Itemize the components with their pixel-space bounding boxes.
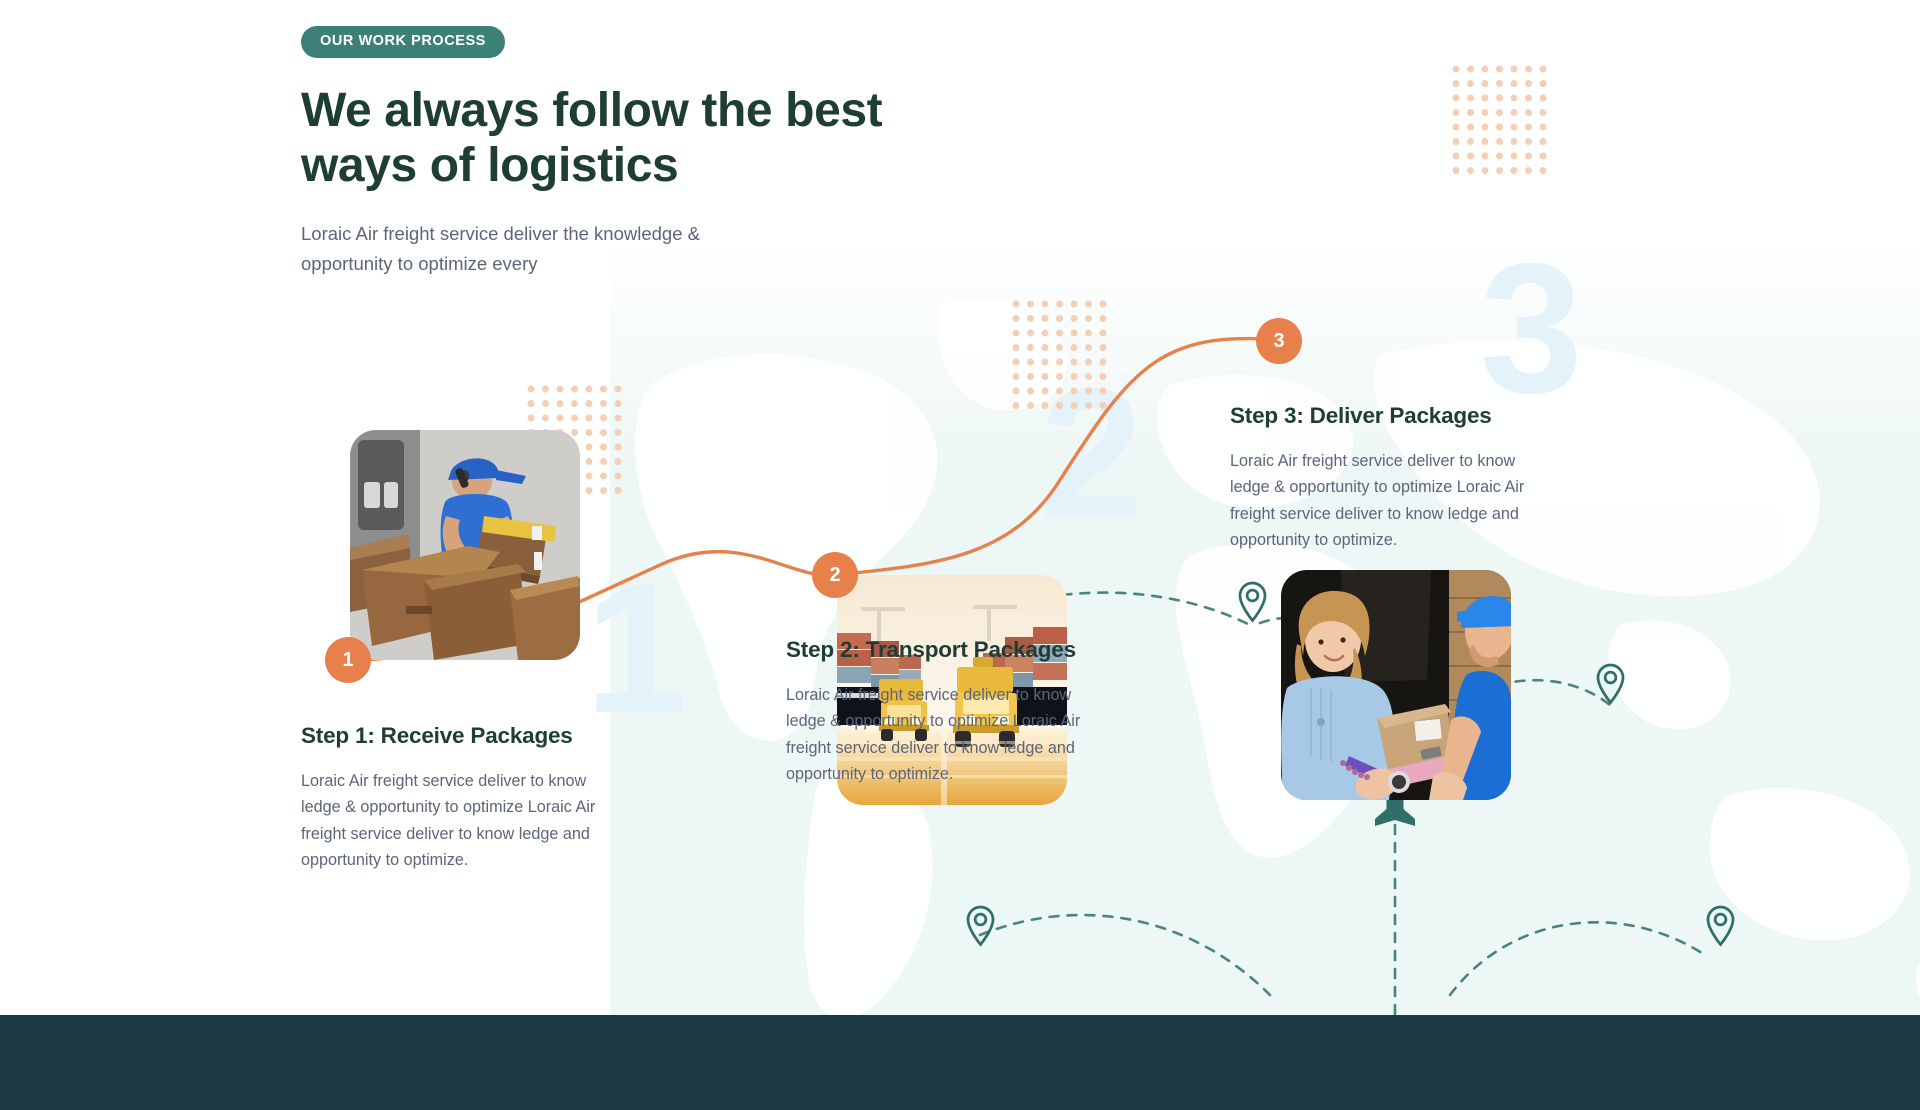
dot-grid-pattern (1012, 300, 1112, 410)
section-subtitle: Loraic Air freight service deliver the k… (301, 219, 791, 279)
page-title: We always follow the best ways of logist… (301, 83, 901, 193)
dot-grid-pattern (1452, 65, 1552, 175)
step-3-text-block: Step 3: Deliver Packages Loraic Air frei… (1230, 403, 1548, 554)
delivery-man-with-boxes-photo (350, 430, 580, 660)
step-2-text-block: Step 2: Transport Packages Loraic Air fr… (786, 637, 1104, 788)
section-header: OUR WORK PROCESS We always follow the be… (301, 26, 981, 279)
step-1-text-block: Step 1: Receive Packages Loraic Air frei… (301, 723, 619, 874)
footer-band (0, 1015, 1920, 1110)
step-1-title: Step 1: Receive Packages (301, 723, 619, 749)
step-2-badge: 2 (812, 552, 858, 598)
step-3-badge: 3 (1256, 318, 1302, 364)
step-2-body: Loraic Air freight service deliver to kn… (786, 682, 1104, 788)
step-3-title: Step 3: Deliver Packages (1230, 403, 1548, 429)
step-3-body: Loraic Air freight service deliver to kn… (1230, 448, 1548, 554)
step-1-image (350, 430, 580, 660)
step-3-image (1281, 570, 1511, 800)
customer-signing-for-package-photo (1281, 570, 1511, 800)
step-1-badge: 1 (325, 637, 371, 683)
step-2-title: Step 2: Transport Packages (786, 637, 1104, 663)
step-1-body: Loraic Air freight service deliver to kn… (301, 768, 619, 874)
eyebrow-badge: OUR WORK PROCESS (301, 26, 505, 58)
